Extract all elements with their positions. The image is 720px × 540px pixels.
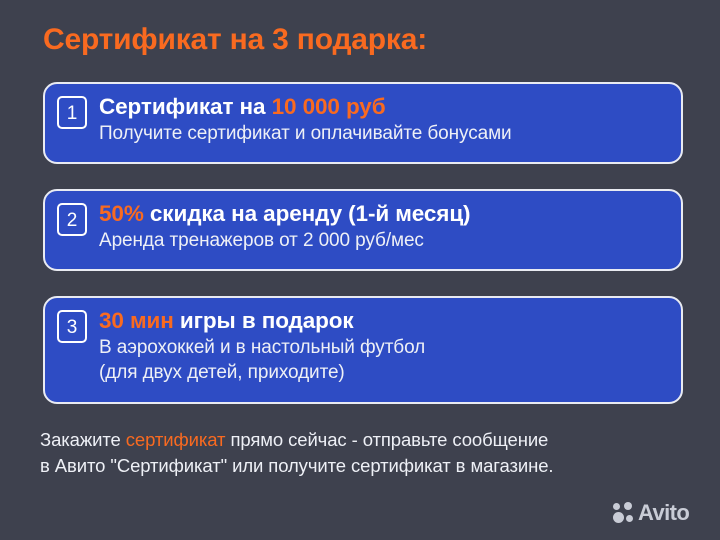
footer-note-line-2: в Авито "Сертификат" или получите сертиф…: [40, 453, 690, 479]
offer-title: Сертификат на 10 000 руб: [99, 93, 671, 121]
offer-number-badge: 1: [57, 96, 87, 129]
page-title: Сертификат на 3 подарка:: [43, 23, 427, 57]
offer-number-badge: 2: [57, 203, 87, 236]
offer-title: 30 мин игры в подарок: [99, 307, 671, 335]
offer-title: 50% скидка на аренду (1-й месяц): [99, 200, 671, 228]
offer-title-prefix: Сертификат на: [99, 94, 272, 119]
offer-card-1: 1 Сертификат на 10 000 руб Получите серт…: [43, 82, 683, 164]
footer-note: Закажите сертификат прямо сейчас - отпра…: [40, 427, 690, 479]
footer-note-line-1: Закажите сертификат прямо сейчас - отпра…: [40, 427, 690, 453]
offer-card-body: 30 мин игры в подарок В аэрохоккей и в н…: [99, 307, 671, 385]
offer-card-2: 2 50% скидка на аренду (1-й месяц) Аренд…: [43, 189, 683, 271]
avito-dot-top-right: [624, 502, 632, 510]
footer-note-prefix: Закажите: [40, 429, 126, 450]
avito-logo: Avito: [613, 502, 689, 524]
offer-subtitle-line: Аренда тренажеров от 2 000 руб/мес: [99, 228, 671, 253]
footer-note-suffix: прямо сейчас - отправьте сообщение: [225, 429, 548, 450]
offer-subtitle-line: В аэрохоккей и в настольный футбол: [99, 335, 671, 360]
offer-subtitle-line: (для двух детей, приходите): [99, 360, 671, 385]
offer-title-highlight: 30 мин: [99, 308, 174, 333]
avito-dot-bottom-right: [626, 515, 633, 522]
avito-wordmark: Avito: [638, 502, 689, 524]
offer-title-suffix: скидка на аренду (1-й месяц): [144, 201, 471, 226]
avito-dot-top-left: [613, 503, 620, 510]
promo-banner: Сертификат на 3 подарка: 1 Сертификат на…: [0, 0, 720, 540]
offer-title-highlight: 10 000 руб: [272, 94, 386, 119]
offer-subtitle-line: Получите сертификат и оплачивайте бонуса…: [99, 121, 671, 146]
offer-title-highlight: 50%: [99, 201, 144, 226]
offer-number-badge: 3: [57, 310, 87, 343]
avito-dots-icon: [613, 502, 634, 524]
footer-note-highlight: сертификат: [126, 429, 226, 450]
offer-title-suffix: игры в подарок: [174, 308, 354, 333]
offer-card-3: 3 30 мин игры в подарок В аэрохоккей и в…: [43, 296, 683, 404]
offer-card-body: Сертификат на 10 000 руб Получите сертиф…: [99, 93, 671, 146]
avito-dot-bottom-left: [613, 512, 624, 523]
offer-card-body: 50% скидка на аренду (1-й месяц) Аренда …: [99, 200, 671, 253]
